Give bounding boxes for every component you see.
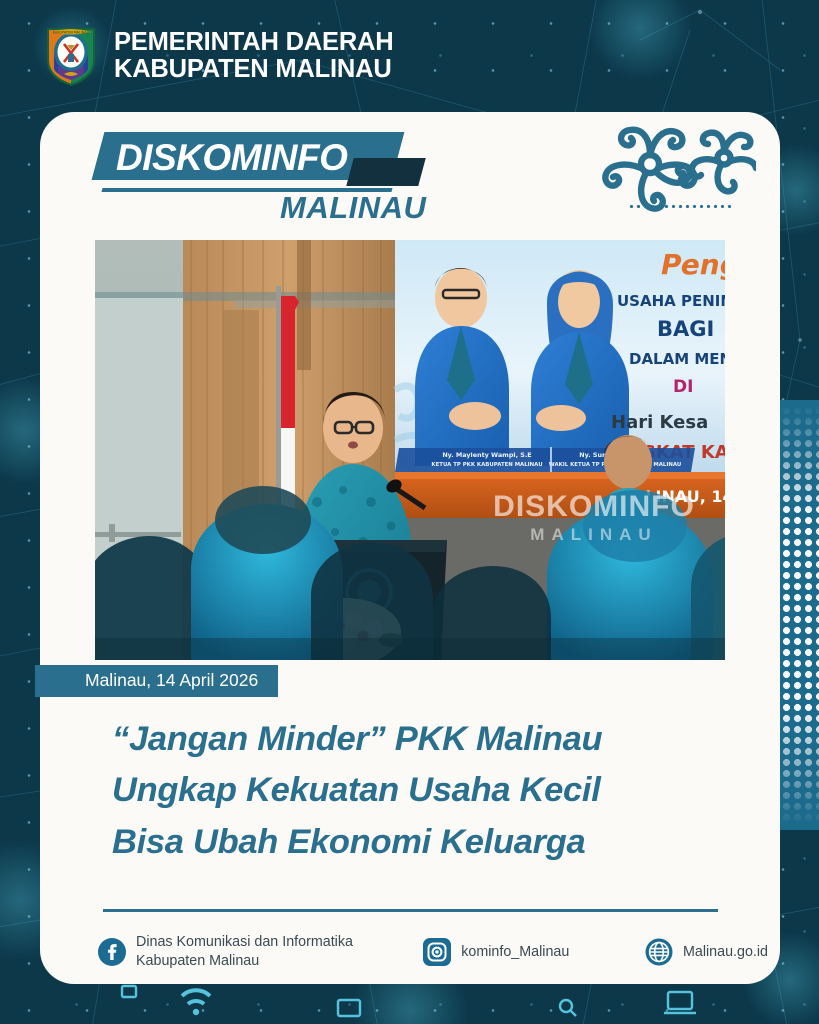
laptop-icon-2 [664, 992, 696, 1013]
headline-line-1: “Jangan Minder” PKK Malinau [112, 714, 722, 765]
footer-facebook-line-1: Dinas Komunikasi dan Informatika [136, 933, 353, 952]
news-photo-illustration: Pengu USAHA PENINGK BAGI DALAM MEN DI Ha… [95, 240, 725, 660]
facebook-icon[interactable] [98, 938, 126, 966]
banner-person1-name: Ny. Maylenty Wampi, S.E [442, 451, 531, 459]
footer-facebook-line-2: Kabupaten Malinau [136, 952, 353, 971]
content-card: DISKOMINFO MALINAU [40, 112, 780, 984]
malinau-regency-emblem-icon: KABUPATEN MALINAU [44, 24, 98, 88]
laptop-icon [338, 1000, 360, 1016]
diskominfo-submark: MALINAU [280, 190, 426, 226]
footer: Dinas Komunikasi dan Informatika Kabupat… [98, 928, 768, 976]
footer-website-label: Malinau.go.id [683, 943, 768, 962]
svg-text:KABUPATEN MALINAU: KABUPATEN MALINAU [53, 31, 90, 35]
tech-icon-strip [0, 984, 819, 1024]
headline: “Jangan Minder” PKK Malinau Ungkap Kekua… [112, 714, 722, 868]
news-photo: Pengu USAHA PENINGK BAGI DALAM MEN DI Ha… [95, 240, 725, 660]
footer-facebook[interactable]: Dinas Komunikasi dan Informatika Kabupat… [98, 933, 423, 971]
photo-watermark: DISKOMINFO MALINAU [463, 492, 725, 548]
headline-line-3: Bisa Ubah Ekonomi Keluarga [112, 817, 722, 868]
banner-line-2: BAGI [657, 317, 714, 341]
page-header: KABUPATEN MALINAU PEMERINTAH DAERAH KABU… [0, 0, 819, 112]
banner-line-1: USAHA PENINGK [617, 292, 725, 310]
banner-line-4: DI [673, 377, 693, 397]
banner-person1-title: KETUA TP PKK KABUPATEN MALINAU [431, 462, 542, 468]
instagram-icon[interactable] [423, 938, 451, 966]
search-icon [560, 1000, 576, 1016]
diskominfo-logo: DISKOMINFO MALINAU [98, 130, 478, 238]
footer-divider [103, 909, 718, 912]
globe-icon[interactable] [645, 938, 673, 966]
banner-script-line: Pengu [661, 248, 725, 281]
footer-instagram[interactable]: kominfo_Malinau [423, 938, 645, 966]
diskominfo-dark-accent-shape [346, 158, 426, 186]
headline-line-2: Ungkap Kekuatan Usaha Kecil [112, 765, 722, 816]
diskominfo-wordmark: DISKOMINFO [116, 137, 347, 179]
monitor-icon [122, 986, 136, 997]
banner-line-3: DALAM MEN [629, 350, 725, 368]
footer-facebook-label: Dinas Komunikasi dan Informatika Kabupat… [136, 933, 353, 971]
gov-title-line-1: PEMERINTAH DAERAH [114, 29, 393, 56]
banner-line-5: Hari Kesa [611, 412, 708, 433]
watermark-line-2: MALINAU [463, 522, 725, 548]
footer-instagram-label: kominfo_Malinau [461, 943, 569, 962]
watermark-line-1: DISKOMINFO [463, 492, 725, 522]
page-title: PEMERINTAH DAERAH KABUPATEN MALINAU [114, 29, 393, 83]
footer-website[interactable]: Malinau.go.id [645, 938, 768, 966]
gov-title-line-2: KABUPATEN MALINAU [114, 56, 393, 83]
wifi-icon [182, 990, 210, 1015]
ornament-dotted-rule [628, 204, 732, 209]
date-badge: Malinau, 14 April 2026 [35, 665, 278, 697]
